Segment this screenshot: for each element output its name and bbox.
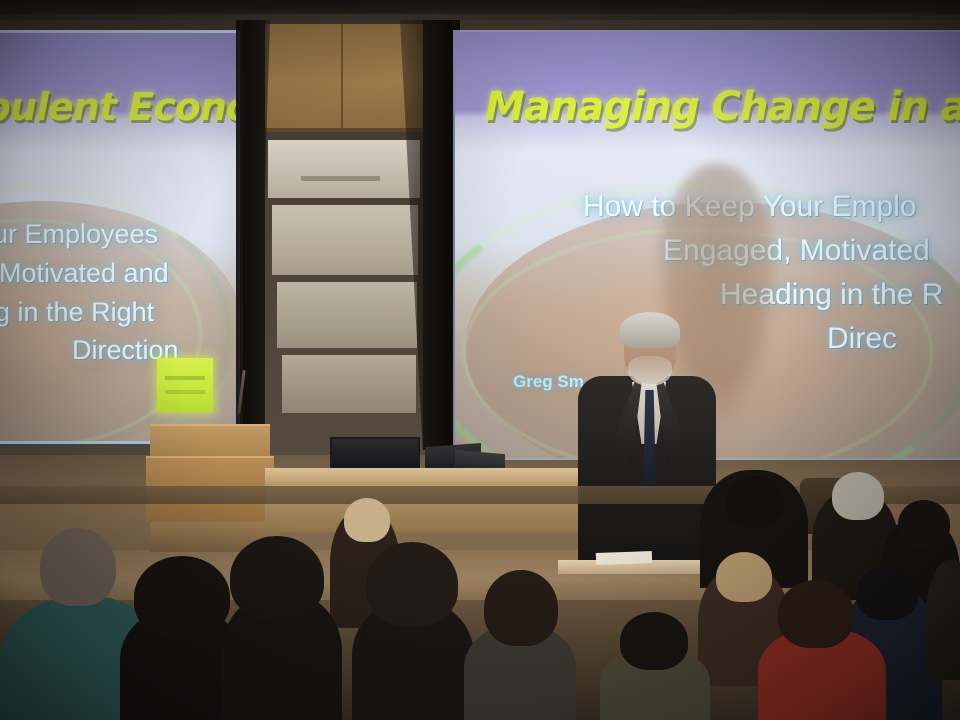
right-slide-title-fragment: Managing Change in a Turbulent Econ xyxy=(485,84,960,130)
center-panel-1 xyxy=(268,140,420,198)
right-slide-subtitle-line-4: Direc xyxy=(827,322,897,356)
audience-blonde-a-head xyxy=(344,498,390,542)
left-slide-title-fragment: rbulent Economy xyxy=(0,85,240,129)
audience-blonde-b-head xyxy=(716,552,772,602)
left-slide-subtitle-line-2: , Motivated and xyxy=(0,258,169,289)
center-panel-2 xyxy=(272,205,418,275)
audience-dark-hair-a-head xyxy=(134,556,230,638)
audience-gray-hair-head xyxy=(832,472,884,520)
center-panel-4 xyxy=(282,355,416,413)
bright-green-sign xyxy=(157,358,213,412)
audience-dark-navy-head xyxy=(856,566,918,620)
audience-dark-hair-b-head xyxy=(230,536,324,620)
left-slide-subtitle-line-1: our Employees xyxy=(0,219,158,250)
presenter-hair xyxy=(620,312,680,348)
center-wood-panel xyxy=(265,24,423,132)
laptop-screen xyxy=(330,437,420,471)
lecture-hall-scene: rbulent Economy our Employees , Motivate… xyxy=(0,0,960,720)
audience-olive-shirt-head xyxy=(620,612,688,670)
audience-dark-hair-e-head xyxy=(898,500,950,548)
audience-teal-shirt-head xyxy=(40,528,116,606)
audience-far-right xyxy=(926,560,960,680)
audience-dark-hair-d-head xyxy=(726,476,784,528)
presenter-beard xyxy=(628,356,672,386)
papers-on-table xyxy=(596,551,652,565)
lectern-top xyxy=(150,424,270,460)
audience-dark-hair-c-head xyxy=(366,542,458,626)
center-panel-3 xyxy=(277,282,417,348)
audience-plaid-shirt-head xyxy=(484,570,558,646)
audience-red-shirt-head xyxy=(778,580,854,648)
left-slide-subtitle-line-3: ing in the Right xyxy=(0,297,154,328)
